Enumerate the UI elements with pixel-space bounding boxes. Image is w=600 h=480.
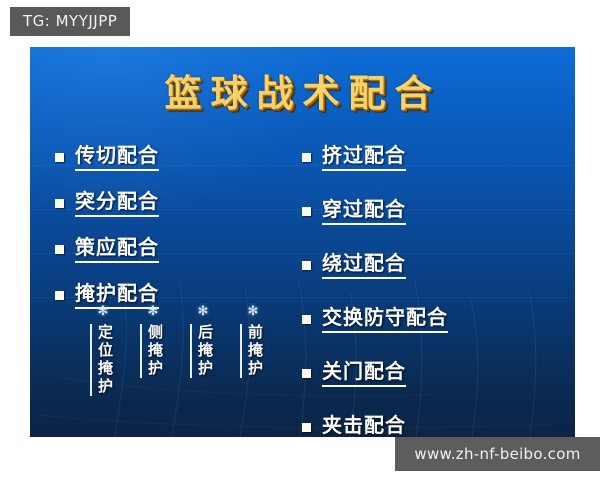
presentation-slide: 篮球战术配合 传切配合 突分配合 策应配合 掩护配合 ✻ 定位掩护 ✻ 侧掩护 … <box>30 47 575 437</box>
list-item-label: 绕过配合 <box>322 252 406 279</box>
list-item[interactable]: 策应配合 <box>55 236 300 263</box>
list-item-label: 关门配合 <box>322 360 406 387</box>
square-bullet-icon <box>55 199 64 208</box>
square-bullet-icon <box>302 315 311 324</box>
sub-item-label: 前掩护 <box>240 324 266 378</box>
slide-title: 篮球战术配合 <box>30 63 575 117</box>
square-bullet-icon <box>55 245 64 254</box>
sub-item-group: ✻ 定位掩护 ✻ 侧掩护 ✻ 后掩护 ✻ 前掩护 <box>90 305 266 396</box>
list-item[interactable]: 关门配合 <box>302 360 567 387</box>
list-item[interactable]: 夹击配合 <box>302 414 567 437</box>
sub-item[interactable]: ✻ 前掩护 <box>240 305 266 396</box>
list-item[interactable]: 穿过配合 <box>302 198 567 225</box>
list-item[interactable]: 绕过配合 <box>302 252 567 279</box>
tg-tag-badge: TG: MYYJJPP <box>10 7 130 36</box>
list-item-label: 传切配合 <box>75 144 159 171</box>
list-item[interactable]: 传切配合 <box>55 144 300 171</box>
sub-item-label: 侧掩护 <box>140 324 166 378</box>
sunburst-icon: ✻ <box>98 305 109 318</box>
sunburst-icon: ✻ <box>148 305 159 318</box>
sub-item[interactable]: ✻ 定位掩护 <box>90 305 116 396</box>
square-bullet-icon <box>55 291 64 300</box>
watermark-badge: www.zh-nf-beibo.com <box>395 437 600 471</box>
list-item-label: 夹击配合 <box>322 414 406 437</box>
sub-item-label: 后掩护 <box>190 324 216 378</box>
square-bullet-icon <box>302 261 311 270</box>
sub-item-label: 定位掩护 <box>90 324 116 396</box>
sub-item[interactable]: ✻ 后掩护 <box>190 305 216 396</box>
square-bullet-icon <box>302 153 311 162</box>
sunburst-icon: ✻ <box>198 305 209 318</box>
list-item-label: 突分配合 <box>75 190 159 217</box>
square-bullet-icon <box>55 153 64 162</box>
sunburst-icon: ✻ <box>248 305 259 318</box>
list-item-label: 策应配合 <box>75 236 159 263</box>
square-bullet-icon <box>302 207 311 216</box>
right-bullet-column: 挤过配合 穿过配合 绕过配合 交换防守配合 关门配合 夹击配合 <box>302 144 567 437</box>
square-bullet-icon <box>302 423 311 432</box>
left-bullet-column: 传切配合 突分配合 策应配合 掩护配合 <box>55 144 300 328</box>
list-item[interactable]: 交换防守配合 <box>302 306 567 333</box>
list-item[interactable]: 挤过配合 <box>302 144 567 171</box>
square-bullet-icon <box>302 369 311 378</box>
sub-item[interactable]: ✻ 侧掩护 <box>140 305 166 396</box>
list-item-label: 挤过配合 <box>322 144 406 171</box>
list-item-label: 交换防守配合 <box>322 306 448 333</box>
list-item-label: 穿过配合 <box>322 198 406 225</box>
list-item[interactable]: 突分配合 <box>55 190 300 217</box>
